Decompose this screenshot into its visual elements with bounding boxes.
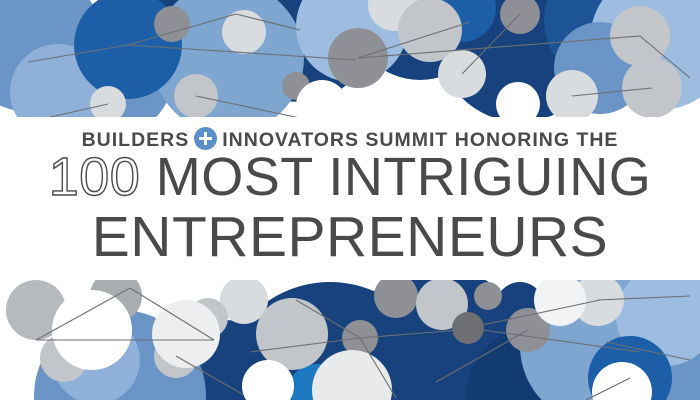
headline-most-intriguing: MOST INTRIGUING — [140, 147, 651, 207]
bottom-pattern-group — [6, 266, 700, 400]
headline-line-middle: 100 MOST INTRIGUING — [0, 150, 700, 204]
headline-white-band: BUILDERSINNOVATORS SUMMIT HONORING THE 1… — [0, 117, 700, 280]
headline-line-bottom: ENTREPRENEURS — [0, 209, 700, 266]
poster-canvas: BUILDERSINNOVATORS SUMMIT HONORING THE 1… — [0, 0, 700, 400]
headline-number-100: 100 — [49, 147, 141, 207]
